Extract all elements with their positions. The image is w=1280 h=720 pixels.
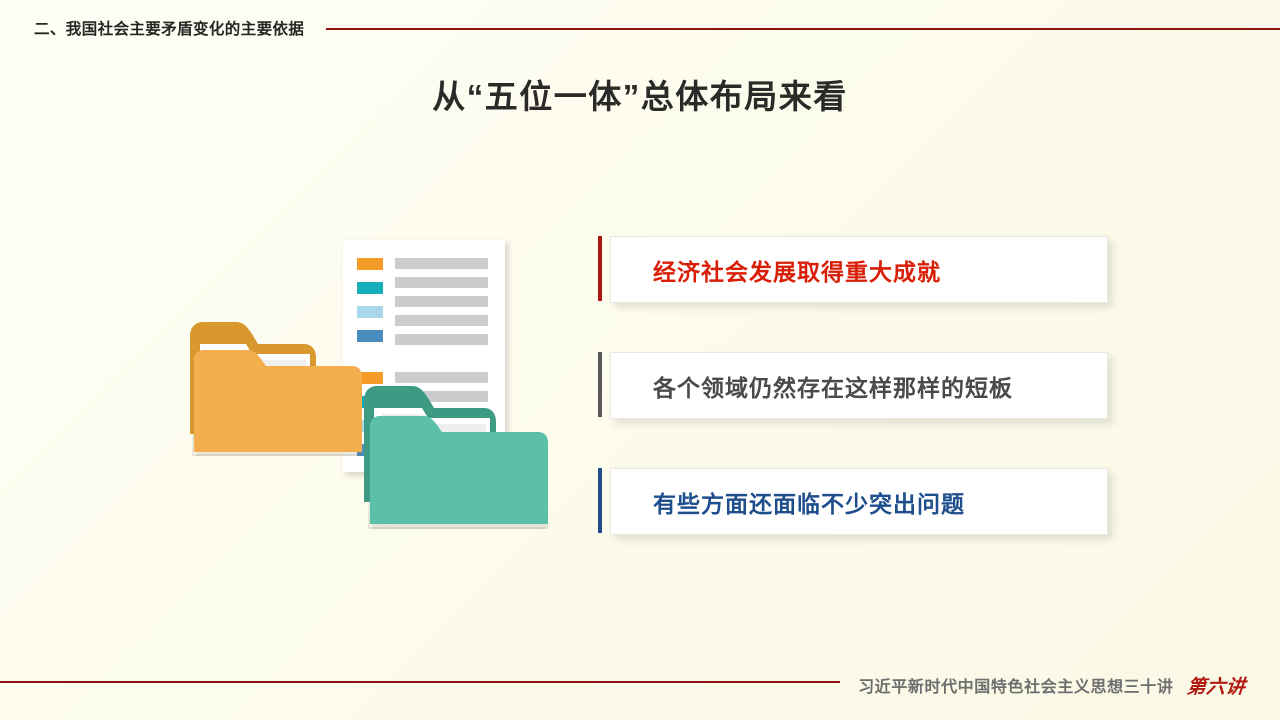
content-box-list: 经济社会发展取得重大成就 各个领域仍然存在这样那样的短板 有些方面还面临不少突出…: [598, 236, 1108, 533]
folder-teal: [360, 378, 554, 532]
tag-orange-1: [357, 258, 383, 270]
slide-header: 二、我国社会主要矛盾变化的主要依据: [0, 14, 1280, 42]
box-economic-achievement[interactable]: 经济社会发展取得重大成就: [598, 236, 1108, 301]
header-divider-line: [326, 28, 1280, 30]
box-prominent-problems[interactable]: 有些方面还面临不少突出问题: [598, 468, 1108, 533]
section-heading: 二、我国社会主要矛盾变化的主要依据: [34, 17, 304, 39]
box-label: 各个领域仍然存在这样那样的短板: [653, 369, 1013, 403]
box-label: 有些方面还面临不少突出问题: [653, 485, 965, 519]
folders-and-document-illustration: [186, 232, 566, 532]
box-body: 有些方面还面临不少突出问题: [610, 468, 1108, 535]
document-text-line: [395, 334, 488, 345]
document-text-line: [395, 315, 488, 326]
folder-orange: [186, 304, 368, 459]
document-text-line: [395, 277, 488, 288]
footer-series-title: 习近平新时代中国特色社会主义思想三十讲: [858, 673, 1173, 697]
page-title: 从“五位一体”总体布局来看: [0, 70, 1280, 118]
tag-teal-1: [357, 282, 383, 294]
box-accent-bar: [598, 236, 602, 301]
document-text-line: [395, 258, 488, 269]
slide-footer: 习近平新时代中国特色社会主义思想三十讲 第六讲: [0, 668, 1280, 702]
box-accent-bar: [598, 468, 602, 533]
document-text-line: [395, 296, 488, 307]
slide: 二、我国社会主要矛盾变化的主要依据 从“五位一体”总体布局来看: [0, 0, 1280, 720]
box-label: 经济社会发展取得重大成就: [653, 253, 941, 287]
box-shortcomings[interactable]: 各个领域仍然存在这样那样的短板: [598, 352, 1108, 417]
footer-lecture-stamp: 第六讲: [1186, 672, 1247, 699]
box-body: 各个领域仍然存在这样那样的短板: [610, 352, 1108, 419]
box-accent-bar: [598, 352, 602, 417]
footer-divider-line: [0, 681, 840, 683]
box-body: 经济社会发展取得重大成就: [610, 236, 1108, 303]
